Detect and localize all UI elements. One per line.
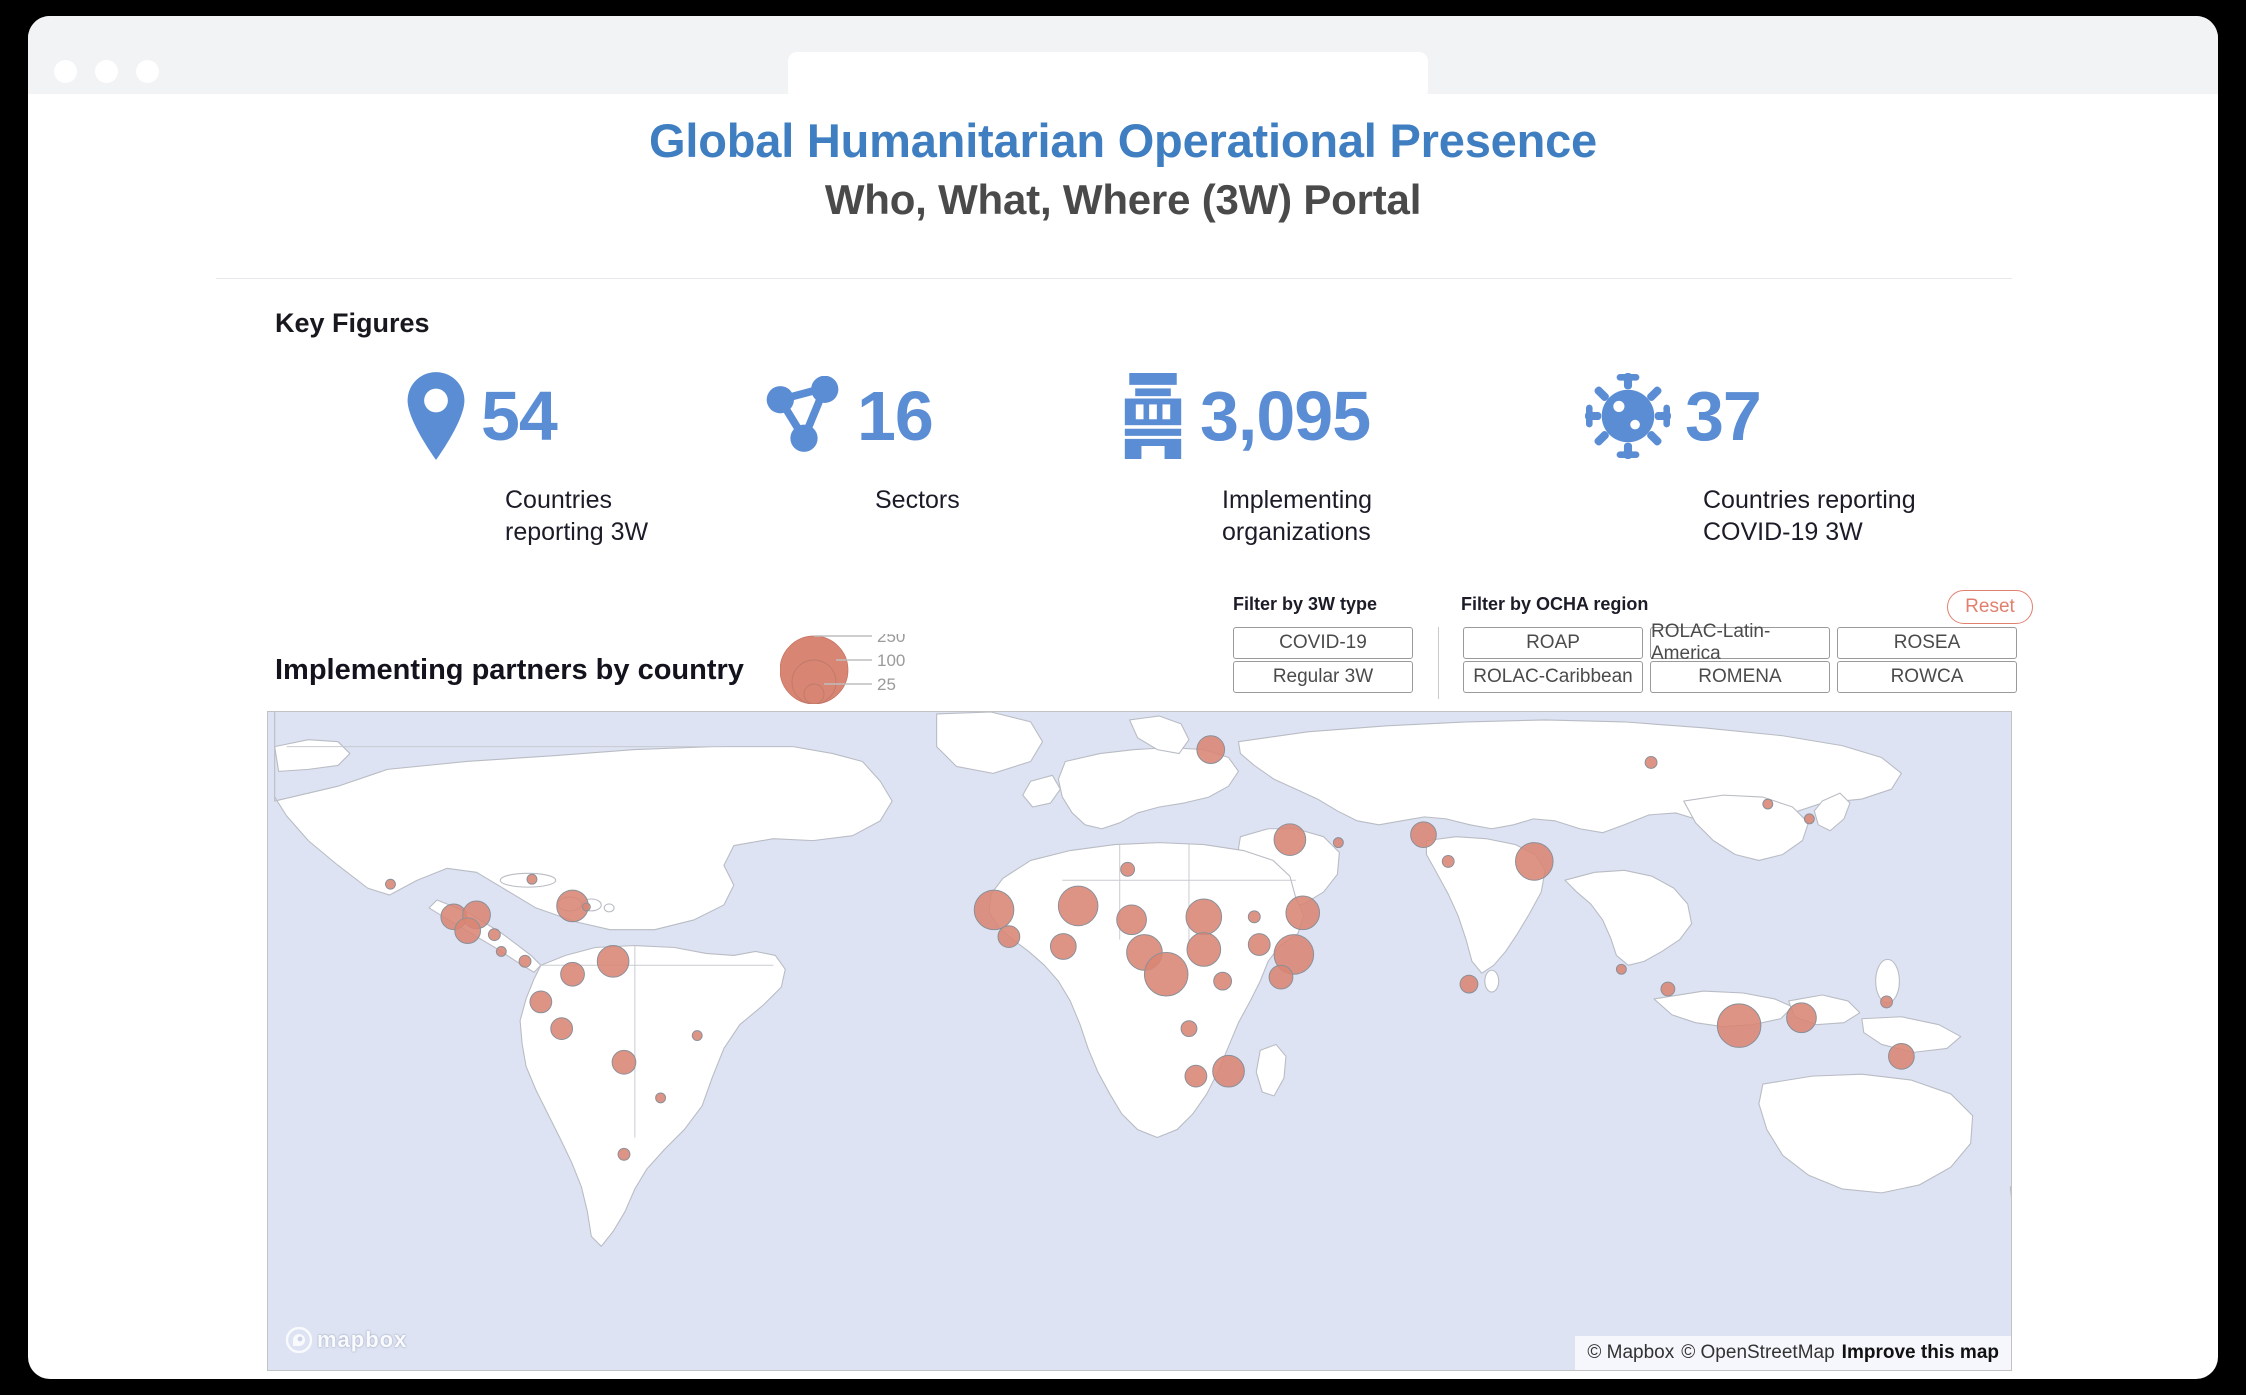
map-bubble[interactable]	[612, 1050, 636, 1074]
key-figures-row: 54 Countries reporting 3W 16 Sectors	[275, 362, 2035, 562]
map-bubble[interactable]	[1460, 975, 1478, 993]
map-bubble[interactable]	[1214, 972, 1232, 990]
key-figure-label-line1: Countries reporting	[1703, 484, 1916, 516]
map-bubble[interactable]	[1269, 965, 1293, 989]
key-figure-label: Implementing organizations	[1222, 484, 1372, 548]
improve-this-map-link[interactable]: Improve this map	[1842, 1342, 1999, 1364]
map-bubble[interactable]	[1804, 814, 1814, 824]
network-icon	[765, 376, 843, 456]
map-bubble[interactable]	[530, 991, 552, 1013]
map-bubble[interactable]	[1763, 799, 1773, 809]
map-bubble[interactable]	[582, 903, 590, 911]
mapbox-logo[interactable]: mapbox	[286, 1324, 407, 1356]
map-bubble[interactable]	[656, 1093, 666, 1103]
map-bubble[interactable]	[1197, 736, 1225, 764]
key-figure-label-line1: Sectors	[875, 484, 960, 516]
map-bubble[interactable]	[1616, 964, 1626, 974]
map-bubble[interactable]	[527, 874, 537, 884]
map-bubble[interactable]	[597, 946, 629, 978]
map-bubble[interactable]	[1248, 911, 1260, 923]
virus-icon	[1585, 373, 1671, 459]
map-bubble[interactable]	[1185, 1065, 1207, 1087]
key-figure-countries-3w: 54 Countries reporting 3W	[405, 362, 648, 548]
map-bubble[interactable]	[692, 1031, 702, 1041]
filter-region-rolac-latin-america[interactable]: ROLAC-Latin-America	[1650, 627, 1830, 659]
key-figure-sectors: 16 Sectors	[765, 362, 960, 516]
filter-region-rowca[interactable]: ROWCA	[1837, 661, 2017, 693]
filter-divider	[1438, 627, 1439, 699]
map-bubble[interactable]	[1333, 838, 1343, 848]
key-figure-label-line2: COVID-19 3W	[1703, 516, 1916, 548]
header-divider	[216, 278, 2012, 279]
attribution-mapbox[interactable]: © Mapbox	[1587, 1342, 1674, 1364]
filter-region-romena[interactable]: ROMENA	[1650, 661, 1830, 693]
map-bubble[interactable]	[1248, 934, 1270, 956]
map-bubble[interactable]	[1144, 952, 1188, 996]
map-bubble[interactable]	[1787, 1003, 1817, 1033]
page-title-line1: Global Humanitarian Operational Presence	[28, 114, 2218, 169]
key-figure-value: 54	[481, 381, 557, 451]
mapbox-mark-icon	[286, 1327, 312, 1353]
map-pin-icon	[405, 372, 467, 460]
browser-window: Global Humanitarian Operational Presence…	[28, 16, 2218, 1379]
map-bubble[interactable]	[1442, 855, 1454, 867]
map-bubble[interactable]	[551, 1018, 573, 1040]
map-bubble[interactable]	[496, 947, 506, 957]
map-bubble[interactable]	[455, 918, 481, 944]
browser-chrome	[28, 16, 2218, 94]
mapbox-logo-text: mapbox	[317, 1327, 407, 1353]
filter-region-rosea[interactable]: ROSEA	[1837, 627, 2017, 659]
map-bubble[interactable]	[1213, 1055, 1245, 1087]
bubble-size-legend: 250 100 25	[780, 634, 940, 704]
map-bubble[interactable]	[618, 1148, 630, 1160]
address-bar[interactable]	[788, 52, 1428, 99]
filters-panel: Filter by 3W type Filter by OCHA region …	[1233, 594, 2033, 704]
map-bubble[interactable]	[519, 955, 531, 967]
map-bubble[interactable]	[1286, 896, 1320, 930]
key-figure-organizations: 3,095 Implementing organizations	[1120, 362, 1372, 548]
close-icon[interactable]	[54, 60, 77, 83]
maximize-icon[interactable]	[136, 60, 159, 83]
map-bubble[interactable]	[1645, 757, 1657, 769]
map-bubble[interactable]	[1058, 886, 1098, 926]
map-bubble[interactable]	[1117, 905, 1147, 935]
map-bubble[interactable]	[1889, 1043, 1915, 1069]
legend-value-100: 100	[877, 651, 905, 670]
key-figure-label-line2: reporting 3W	[505, 516, 648, 548]
key-figures-heading: Key Figures	[275, 308, 430, 339]
map-attribution: © Mapbox © OpenStreetMap Improve this ma…	[1575, 1336, 2011, 1370]
map-bubble[interactable]	[488, 929, 500, 941]
map-bubble[interactable]	[1881, 996, 1893, 1008]
map-bubble[interactable]	[998, 926, 1020, 948]
reset-button[interactable]: Reset	[1947, 590, 2033, 624]
key-figure-label-line1: Countries	[505, 484, 648, 516]
map-canvas[interactable]: mapbox © Mapbox © OpenStreetMap Improve …	[267, 711, 2012, 1371]
map-bubble[interactable]	[1187, 933, 1221, 967]
map-bubble[interactable]	[1050, 934, 1076, 960]
building-icon	[1120, 373, 1186, 459]
key-figure-value: 37	[1685, 381, 1761, 451]
key-figure-label-line1: Implementing	[1222, 484, 1372, 516]
map-heading: Implementing partners by country	[275, 654, 744, 687]
legend-value-250: 250	[877, 634, 905, 646]
map-bubble[interactable]	[1274, 824, 1306, 856]
key-figure-label-line2: organizations	[1222, 516, 1372, 548]
map-bubble[interactable]	[1186, 899, 1222, 935]
window-controls[interactable]	[54, 60, 159, 83]
map-bubble[interactable]	[1717, 1004, 1761, 1048]
filter-type-label: Filter by 3W type	[1233, 594, 1377, 615]
filter-region-roap[interactable]: ROAP	[1463, 627, 1643, 659]
page-title: Global Humanitarian Operational Presence…	[28, 114, 2218, 225]
key-figure-value: 3,095	[1200, 381, 1370, 451]
filter-type-regular-3w[interactable]: Regular 3W	[1233, 661, 1413, 693]
key-figure-label: Countries reporting 3W	[505, 484, 648, 548]
map-bubble[interactable]	[386, 879, 396, 889]
map-bubble[interactable]	[1411, 822, 1437, 848]
legend-value-25: 25	[877, 675, 896, 694]
filter-region-rolac-caribbean[interactable]: ROLAC-Caribbean	[1463, 661, 1643, 693]
minimize-icon[interactable]	[95, 60, 118, 83]
map-bubble[interactable]	[561, 962, 585, 986]
page-title-line2: Who, What, Where (3W) Portal	[28, 175, 2218, 225]
world-map[interactable]	[268, 712, 2011, 1370]
key-figure-value: 16	[857, 381, 933, 451]
map-bubble[interactable]	[1661, 982, 1675, 996]
map-bubble[interactable]	[1121, 862, 1135, 876]
map-bubble[interactable]	[1516, 843, 1554, 881]
key-figure-label: Sectors	[875, 484, 960, 516]
filter-region-label: Filter by OCHA region	[1461, 594, 1648, 615]
map-bubble[interactable]	[1181, 1021, 1197, 1037]
map-bubble[interactable]	[974, 890, 1014, 930]
filter-type-covid19[interactable]: COVID-19	[1233, 627, 1413, 659]
key-figure-covid-countries: 37 Countries reporting COVID-19 3W	[1585, 362, 1916, 548]
key-figure-label: Countries reporting COVID-19 3W	[1703, 484, 1916, 548]
attribution-osm[interactable]: © OpenStreetMap	[1681, 1342, 1834, 1364]
